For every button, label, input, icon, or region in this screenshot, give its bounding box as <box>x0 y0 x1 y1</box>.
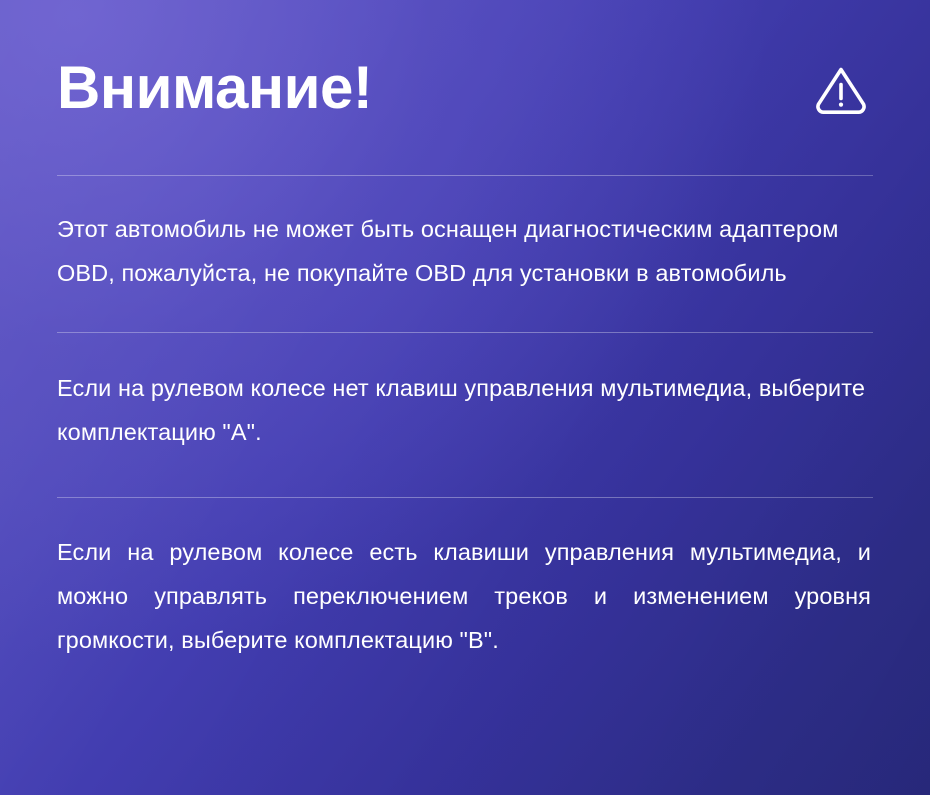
notice-section-configuration-b: Если на рулевом колесе есть клавиши упра… <box>57 498 873 662</box>
notice-content: Внимание! Этот автомобиль не может быть … <box>0 0 930 662</box>
page-title: Внимание! <box>57 58 372 118</box>
notice-header: Внимание! <box>57 0 873 175</box>
notice-section-obd-not-supported: Этот автомобиль не может быть оснащен ди… <box>57 176 873 332</box>
warning-notice-card: Внимание! Этот автомобиль не может быть … <box>0 0 930 795</box>
notice-section-configuration-a: Если на рулевом колесе нет клавиш управл… <box>57 333 873 497</box>
warning-triangle-icon <box>811 60 871 120</box>
